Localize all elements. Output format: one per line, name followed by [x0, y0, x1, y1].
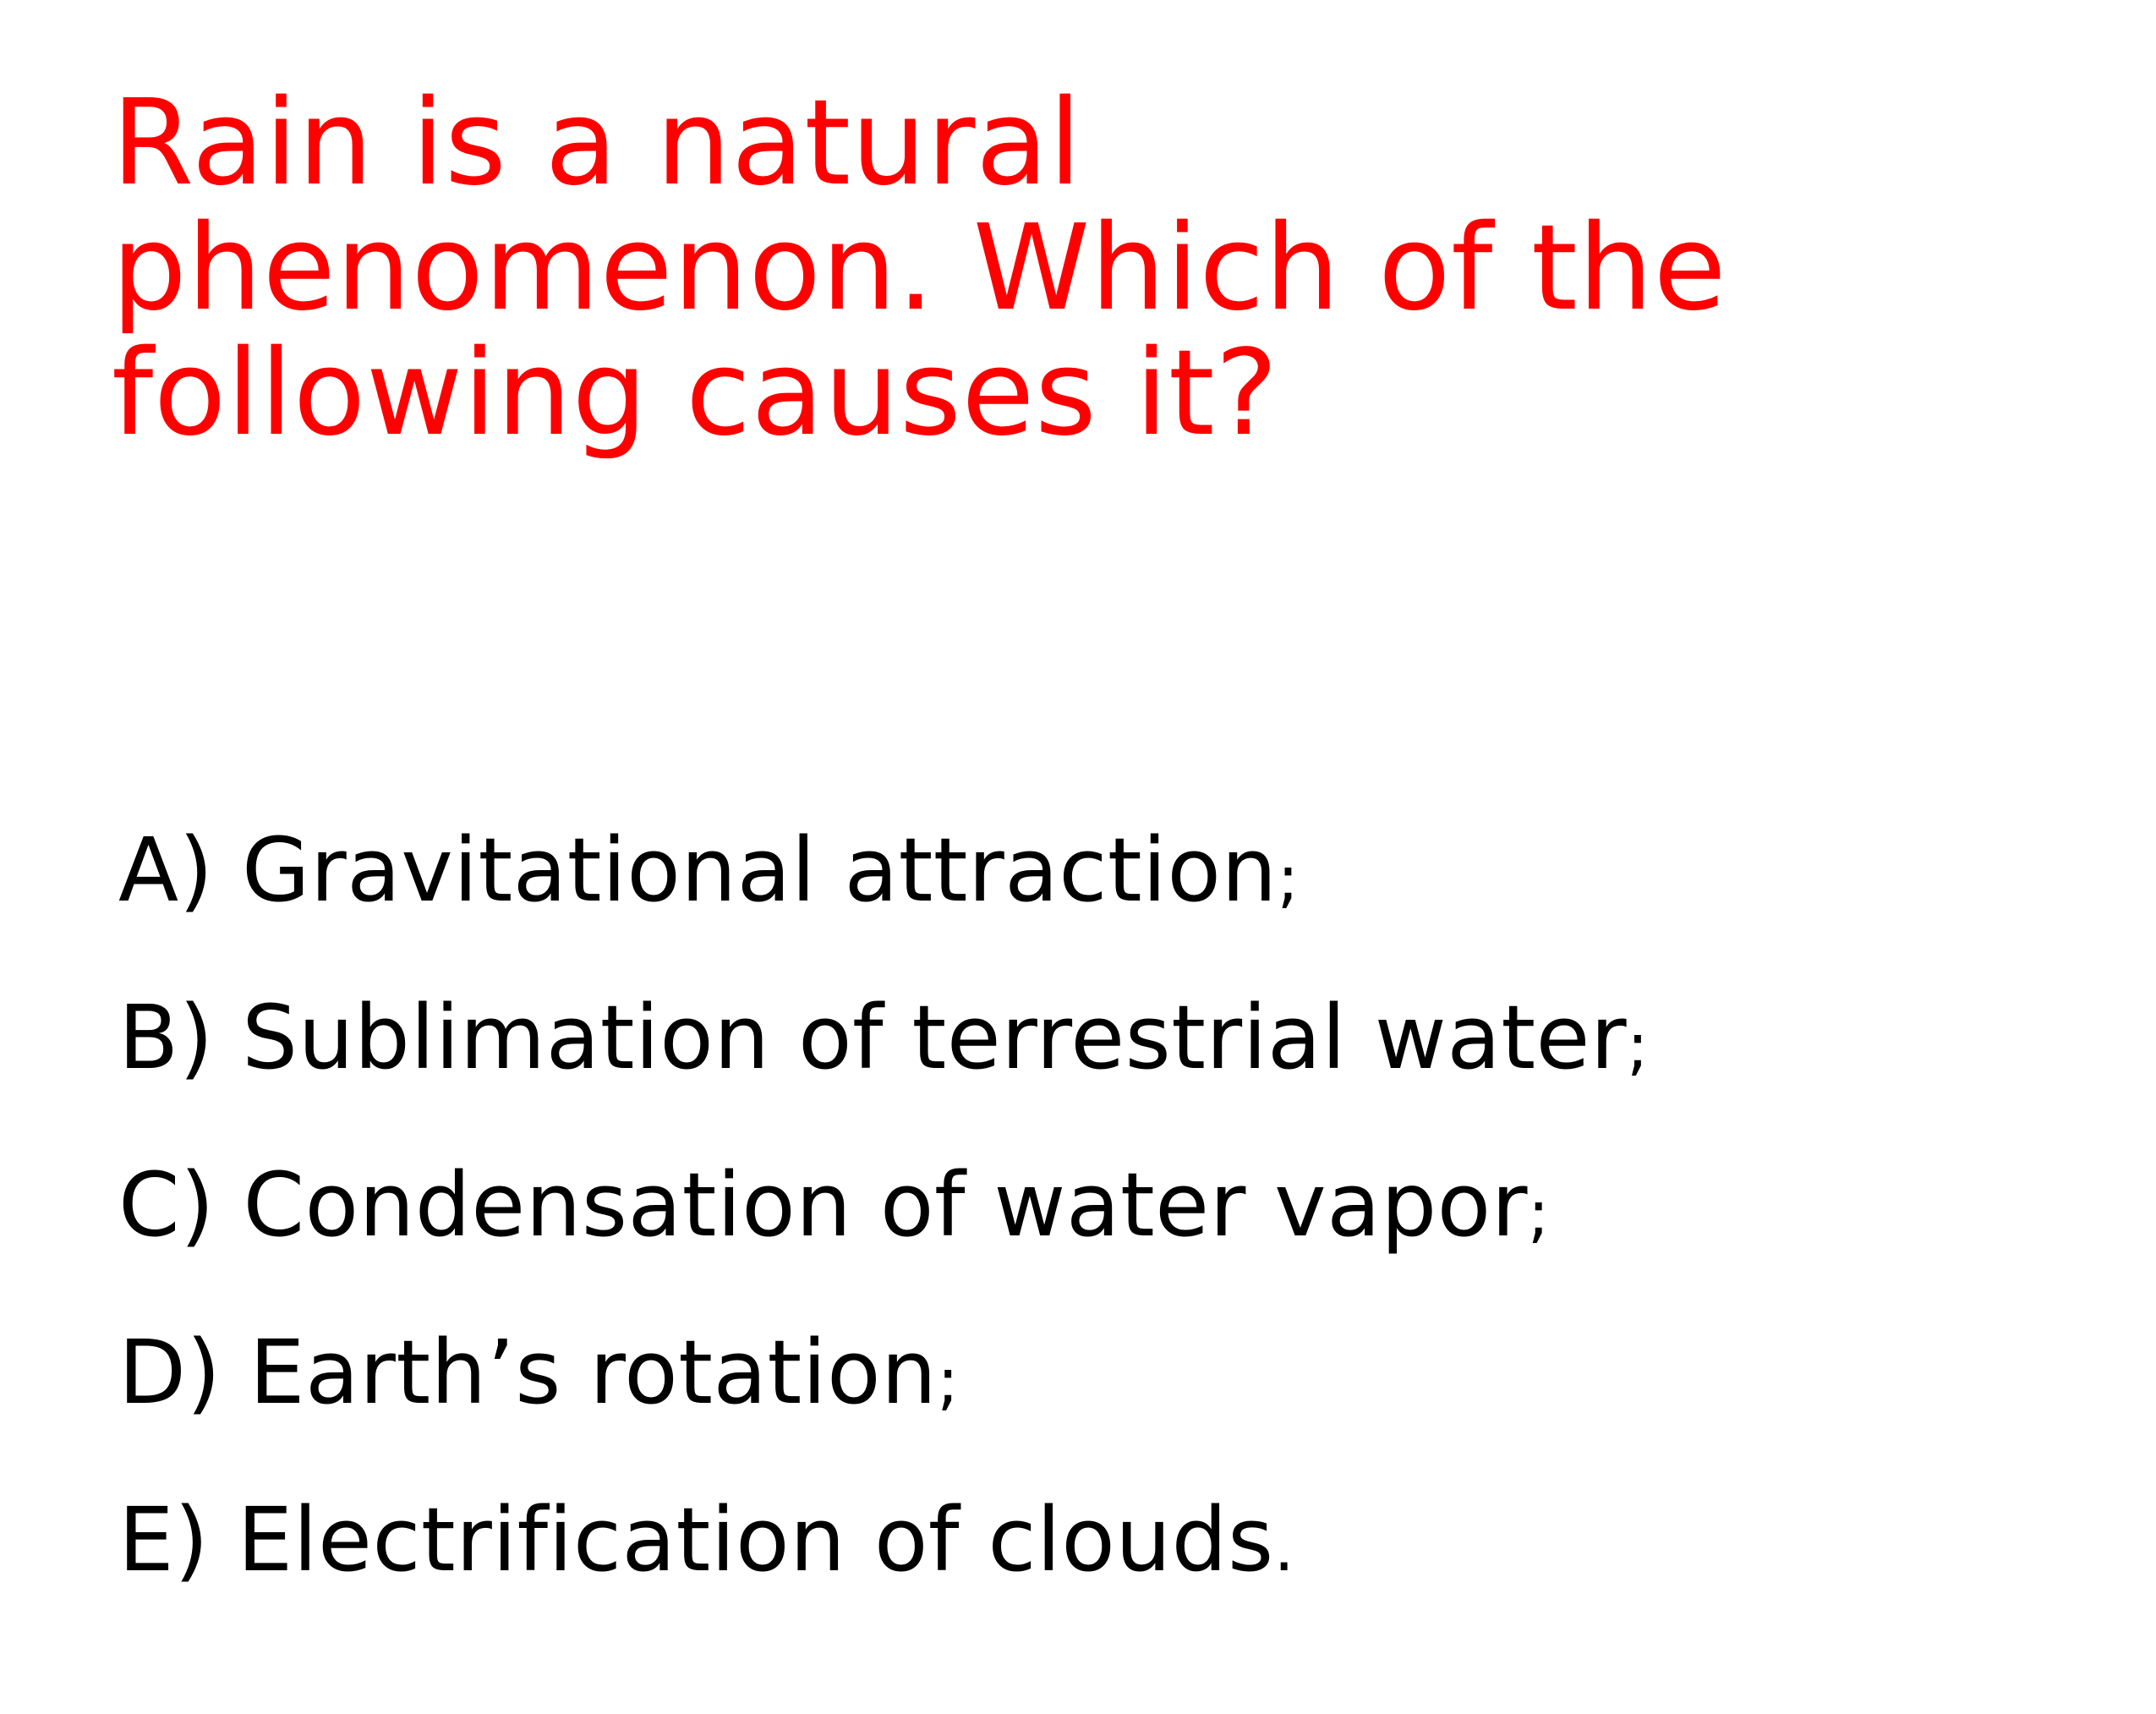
question-line-3: following causes it? — [112, 331, 2039, 457]
answer-option-a[interactable]: A) Gravitational attraction; — [118, 786, 2063, 954]
question-block: Rain is a natural phenomenon. Which of t… — [112, 81, 2039, 457]
answer-option-c[interactable]: C) Condensation of water vapor; — [118, 1121, 2063, 1289]
answer-option-b[interactable]: B) Sublimation of terrestrial water; — [118, 954, 2063, 1121]
answer-option-e-text: E) Electrification of clouds — [118, 1488, 1274, 1591]
answer-option-a-text: A) Gravitational attraction — [118, 819, 1278, 922]
answer-option-e-punct: . — [1274, 1510, 1294, 1585]
quiz-slide: Rain is a natural phenomenon. Which of t… — [0, 0, 2156, 1714]
question-line-2: phenomenon. Which of the — [112, 206, 2039, 331]
answer-option-c-text: C) Condensation of water vapor — [118, 1153, 1528, 1257]
answer-option-b-punct: ; — [1627, 1008, 1649, 1083]
answer-option-d-text: D) Earth’s rotation — [118, 1321, 937, 1424]
answer-option-c-punct: ; — [1528, 1175, 1550, 1251]
answer-option-d-punct: ; — [937, 1343, 959, 1418]
answer-option-e[interactable]: E) Electrification of clouds. — [118, 1456, 2063, 1624]
answer-option-b-text: B) Sublimation of terrestrial water — [118, 986, 1627, 1089]
answer-option-a-punct: ; — [1278, 841, 1300, 916]
answer-options-list: A) Gravitational attraction; B) Sublimat… — [118, 786, 2063, 1624]
question-line-1: Rain is a natural — [112, 81, 2039, 206]
answer-option-d[interactable]: D) Earth’s rotation; — [118, 1289, 2063, 1456]
